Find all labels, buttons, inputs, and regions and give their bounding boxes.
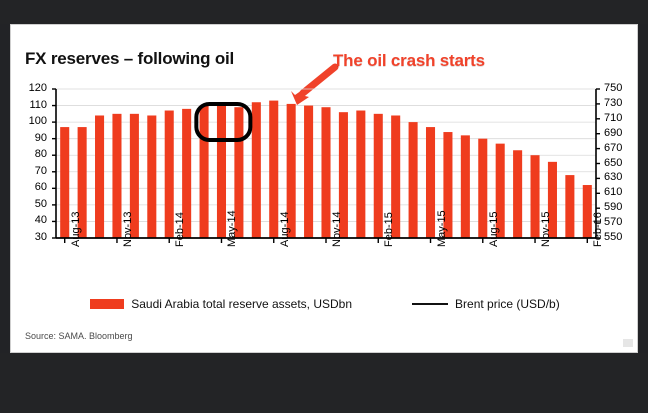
letterbox-bottom <box>0 353 648 413</box>
source-note: Source: SAMA. Bloomberg <box>25 331 133 341</box>
y-axis-right-tick-label: 750 <box>604 82 636 94</box>
y-axis-left-tick-label: 110 <box>17 99 47 111</box>
y-axis-right-tick-label: 730 <box>604 97 636 109</box>
chart-legend: Saudi Arabia total reserve assets, USDbn… <box>11 297 638 311</box>
x-axis-tick-label: Aug-14 <box>279 212 291 247</box>
y-axis-left-tick-label: 70 <box>17 165 47 177</box>
y-axis-left-tick-label: 80 <box>17 148 47 160</box>
x-axis-tick-label: Aug-13 <box>70 212 82 247</box>
y-axis-left-tick-label: 50 <box>17 198 47 210</box>
legend-bar-swatch <box>90 299 124 309</box>
x-axis-tick-label: Feb-14 <box>174 212 186 247</box>
x-axis-tick-label: May-14 <box>226 210 238 247</box>
y-axis-left-tick-label: 100 <box>17 115 47 127</box>
legend-item-brent: Brent price (USD/b) <box>412 297 560 311</box>
corner-mark <box>623 339 633 347</box>
x-axis-tick-label: Nov-13 <box>122 212 134 247</box>
bar <box>95 115 104 238</box>
x-axis-tick-label: Feb-15 <box>383 212 395 247</box>
x-axis-tick-label: Nov-15 <box>540 212 552 247</box>
bar <box>321 107 330 238</box>
bar <box>147 115 156 238</box>
bar <box>426 127 435 238</box>
legend-item-reserves: Saudi Arabia total reserve assets, USDbn <box>90 297 352 311</box>
bar <box>304 106 313 238</box>
bar <box>513 150 522 238</box>
letterbox-top <box>0 0 648 24</box>
y-axis-right-tick-label: 650 <box>604 157 636 169</box>
y-axis-right-tick-label: 710 <box>604 112 636 124</box>
bar <box>200 106 209 238</box>
chart-slide: FX reserves – following oil The oil cras… <box>10 24 638 353</box>
legend-label-reserves: Saudi Arabia total reserve assets, USDbn <box>131 297 352 311</box>
y-axis-left-tick-label: 60 <box>17 181 47 193</box>
y-axis-right-tick-label: 590 <box>604 201 636 213</box>
bar <box>531 155 540 238</box>
screenshot-viewport: FX reserves – following oil The oil cras… <box>0 0 648 413</box>
legend-label-brent: Brent price (USD/b) <box>455 297 560 311</box>
y-axis-right-tick-label: 630 <box>604 171 636 183</box>
bar <box>461 135 470 238</box>
y-axis-left-tick-label: 90 <box>17 132 47 144</box>
bar <box>269 101 278 238</box>
y-axis-right-tick-label: 610 <box>604 186 636 198</box>
y-axis-right-tick-label: 570 <box>604 216 636 228</box>
legend-line-swatch <box>412 303 448 305</box>
y-axis-left-tick-label: 40 <box>17 214 47 226</box>
bar <box>409 122 418 238</box>
x-axis-tick-label: Aug-15 <box>488 212 500 247</box>
x-axis-tick-label: May-15 <box>436 210 448 247</box>
y-axis-left-tick-label: 120 <box>17 82 47 94</box>
bar <box>112 114 121 238</box>
y-axis-left-tick-label: 30 <box>17 231 47 243</box>
y-axis-right-tick-label: 550 <box>604 231 636 243</box>
y-axis-right-tick-label: 690 <box>604 127 636 139</box>
bar <box>374 114 383 238</box>
chart-canvas <box>11 25 638 295</box>
x-axis-tick-label: Feb-16 <box>592 212 604 247</box>
y-axis-right-tick-label: 670 <box>604 142 636 154</box>
bar <box>478 139 487 238</box>
bar <box>165 111 174 238</box>
bar <box>60 127 69 238</box>
bar <box>217 106 226 238</box>
bar <box>583 185 592 238</box>
bar <box>356 111 365 238</box>
bar <box>565 175 574 238</box>
x-axis-tick-label: Nov-14 <box>331 212 343 247</box>
bar <box>252 102 261 238</box>
